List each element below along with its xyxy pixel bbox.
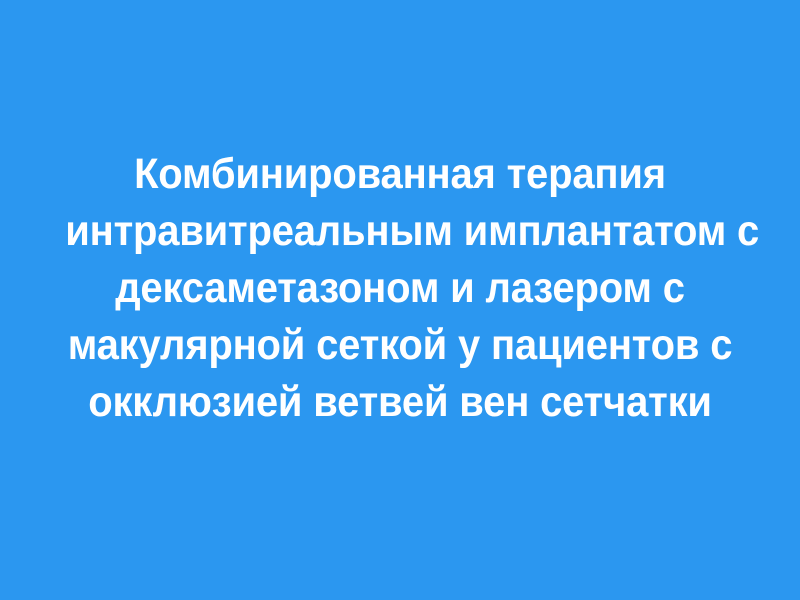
title-line-2: интравитреальным имплантатом с [65,203,735,260]
title-card: Комбинированная терапия интравитреальным… [0,0,800,600]
title-line-4: макулярной сеткой у пациентов с [65,317,735,374]
page-title: Комбинированная терапия интравитреальным… [40,146,760,455]
title-line-1: Комбинированная терапия [65,146,735,203]
title-line-5: окклюзией ветвей вен сетчатки [65,374,735,431]
title-line-3: дексаметазоном и лазером с [65,260,735,317]
